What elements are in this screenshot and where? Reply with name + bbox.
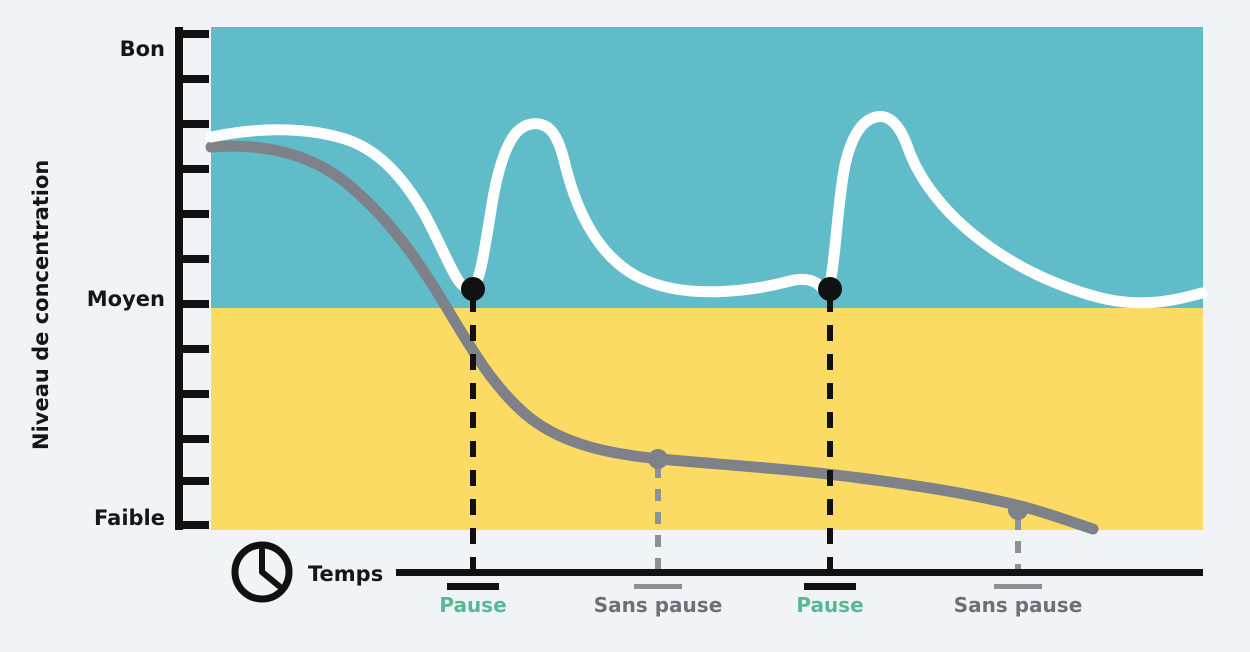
y-tick <box>175 300 209 308</box>
y-axis-spine <box>175 27 183 530</box>
y-tick <box>175 30 209 38</box>
y-tick <box>175 75 209 83</box>
y-tick-label-faible: Faible <box>94 506 165 530</box>
y-tick <box>175 255 209 263</box>
x-axis-spine <box>396 569 1203 576</box>
y-tick-label-moyen: Moyen <box>87 287 165 311</box>
y-axis-title: Niveau de concentration <box>29 160 53 450</box>
y-tick-label-bon: Bon <box>120 37 165 61</box>
x-tick-pause-1 <box>447 583 499 590</box>
x-axis-label-pause-1: Pause <box>439 593 506 617</box>
marker-dot[interactable] <box>648 449 668 469</box>
marker-dot[interactable] <box>1008 500 1028 520</box>
y-tick <box>175 435 209 443</box>
y-tick <box>175 477 209 485</box>
x-axis-label-sans-pause-1: Sans pause <box>594 593 723 617</box>
x-axis-label-pause-2: Pause <box>796 593 863 617</box>
x-axis-label-sans-pause-2: Sans pause <box>954 593 1083 617</box>
marker-dot[interactable] <box>818 277 842 301</box>
y-tick <box>175 521 209 529</box>
marker-dot[interactable] <box>461 277 485 301</box>
y-tick <box>175 210 209 218</box>
band-good-region <box>211 27 1203 308</box>
y-tick <box>175 165 209 173</box>
chart-root: Bon Moyen Faible Niveau de concentration <box>0 0 1250 652</box>
x-tick-sans-pause-2 <box>994 584 1042 589</box>
x-tick-pause-2 <box>804 583 856 590</box>
y-tick <box>175 345 209 353</box>
y-tick <box>175 390 209 398</box>
concentration-chart: Bon Moyen Faible Niveau de concentration <box>0 0 1250 652</box>
y-tick <box>175 120 209 128</box>
x-tick-sans-pause-1 <box>634 584 682 589</box>
x-axis-title: Temps <box>308 562 383 586</box>
band-low-region <box>211 308 1203 530</box>
